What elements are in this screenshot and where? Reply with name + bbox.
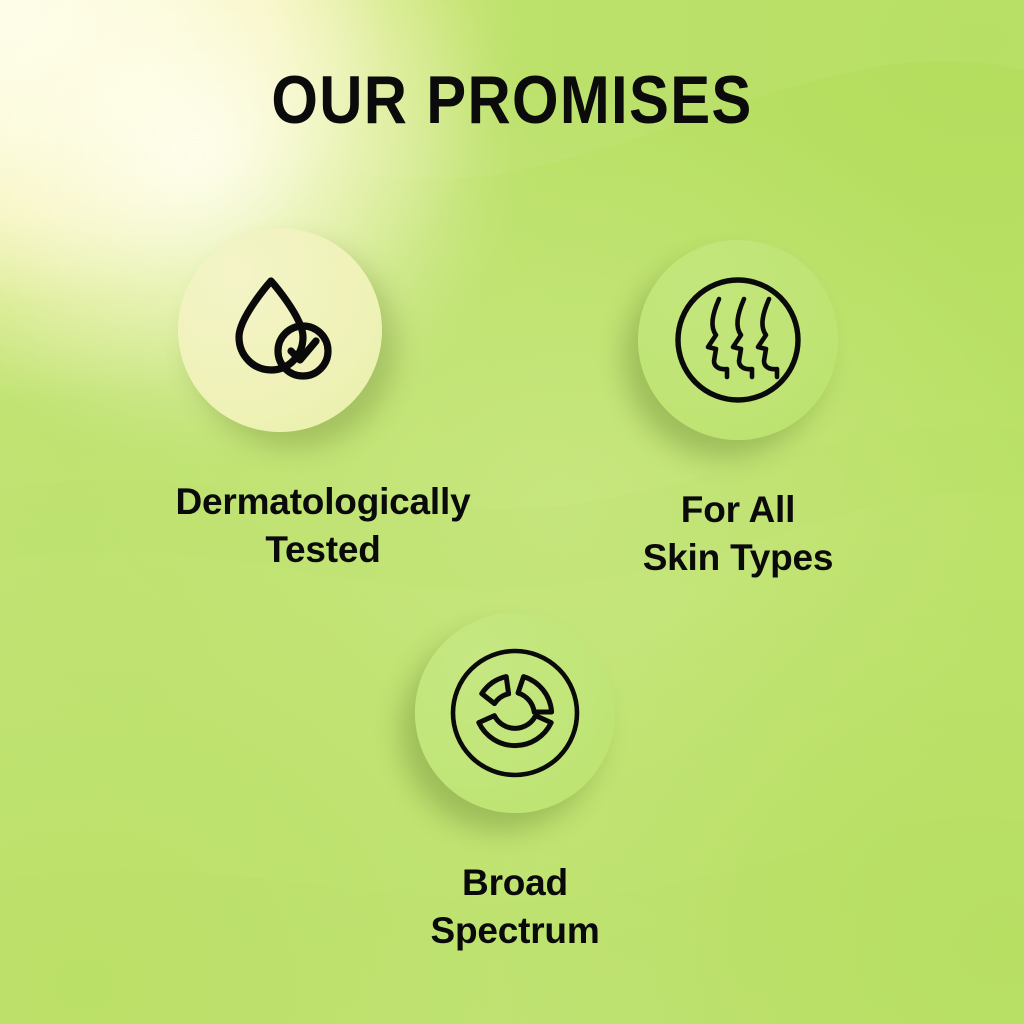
broad-spectrum-icon (445, 643, 585, 783)
page-title: OUR PROMISES (61, 66, 962, 134)
promise-label: Broad Spectrum (357, 859, 673, 955)
promise-label: Dermatologically Tested (106, 478, 540, 574)
promise-item-for-all-skin-types: For All Skin Types (638, 240, 838, 582)
promise-badge-circle (415, 613, 615, 813)
droplet-check-icon (215, 265, 345, 395)
promise-badge-circle (638, 240, 838, 440)
promise-item-broad-spectrum: Broad Spectrum (415, 613, 615, 955)
promise-label: For All Skin Types (580, 486, 896, 582)
promises-infographic: OUR PROMISES Dermatologically Tested (0, 0, 1024, 1024)
three-faces-icon (671, 273, 805, 407)
promise-badge-circle (178, 228, 382, 432)
promise-item-dermatologically-tested: Dermatologically Tested (178, 228, 468, 574)
